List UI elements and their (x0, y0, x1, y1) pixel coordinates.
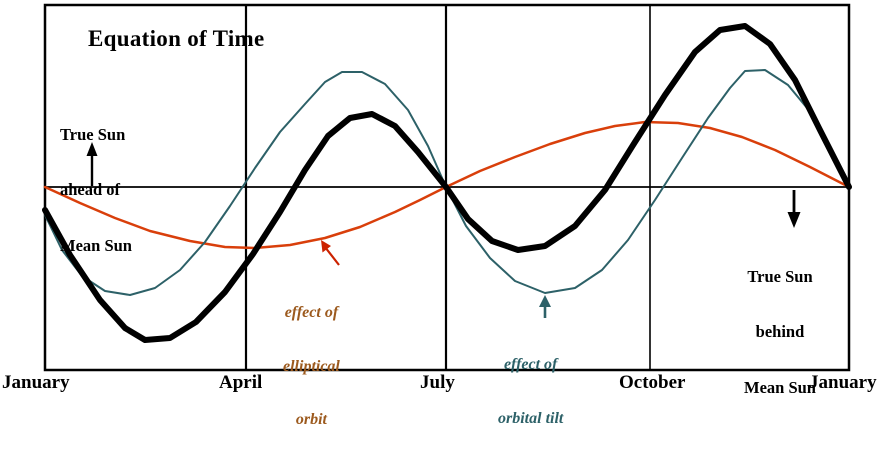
chart-canvas (0, 0, 896, 400)
equation-of-time-figure: Equation of Time True Sun ahead of Mean … (0, 0, 896, 400)
annotation-tilt-line2: orbital tilt (498, 410, 563, 428)
annotation-elliptical-line3: orbit (283, 411, 340, 429)
